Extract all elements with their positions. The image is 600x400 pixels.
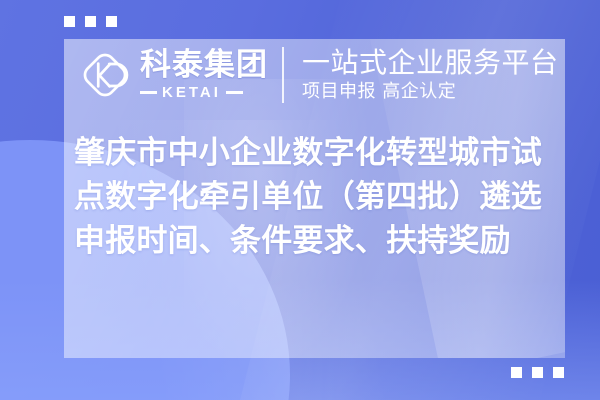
brand-name-en: KETAI	[162, 84, 221, 101]
content-panel: 科泰集团 KETAI 一站式企业服务平台 项目申报 高企认定 肇庆市中小企业数字…	[64, 39, 565, 358]
square-dot-icon	[532, 367, 543, 378]
brand-wordmark: 科泰集团 KETAI	[140, 49, 268, 101]
ketai-diamond-monogram-icon	[78, 48, 132, 102]
decor-dots-bottom-right	[511, 367, 564, 378]
vertical-divider	[282, 47, 284, 103]
left-rule-icon	[140, 91, 157, 94]
brand-name-cn: 科泰集团	[140, 49, 268, 82]
square-dot-icon	[511, 367, 522, 378]
brand-name-en-row: KETAI	[140, 84, 268, 101]
right-rule-icon	[226, 91, 243, 94]
square-dot-icon	[106, 16, 117, 27]
tagline-main: 一站式企业服务平台	[302, 47, 559, 78]
square-dot-icon	[553, 367, 564, 378]
square-dot-icon	[64, 16, 75, 27]
promo-banner: 科泰集团 KETAI 一站式企业服务平台 项目申报 高企认定 肇庆市中小企业数字…	[0, 0, 600, 400]
square-dot-icon	[85, 16, 96, 27]
brand-header: 科泰集团 KETAI 一站式企业服务平台 项目申报 高企认定	[64, 39, 565, 111]
tagline-block: 一站式企业服务平台 项目申报 高企认定	[302, 47, 559, 104]
headline-title: 肇庆市中小企业数字化转型城市试点数字化牵引单位（第四批）遴选申报时间、条件要求、…	[64, 111, 565, 263]
tagline-sub: 项目申报 高企认定	[302, 80, 559, 103]
decor-dots-top-left	[64, 16, 117, 27]
